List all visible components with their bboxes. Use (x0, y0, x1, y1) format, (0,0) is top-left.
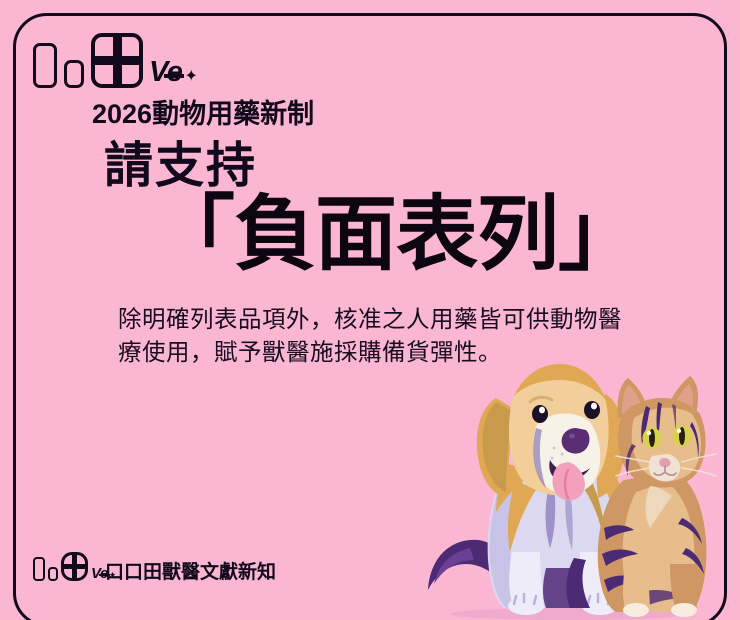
footer-logo: Ve ✦ (33, 552, 108, 581)
logo-spark-icon: ✦ (185, 69, 198, 85)
header-logo: Ve ✦ (33, 33, 182, 88)
logo-bar-tall-icon (33, 43, 57, 88)
logo-bar-short-icon (48, 567, 58, 581)
poster-canvas: Ve ✦ 2026動物用藥新制 請支持 「負面表列」 除明確列表品項外，核准之人… (0, 0, 740, 620)
logo-cross-icon (61, 552, 88, 581)
footer-brand-text: 口口田獸醫文獻新知 (105, 557, 276, 584)
logo-cross-icon (91, 33, 143, 88)
logo-bar-tall-icon (33, 557, 45, 581)
headline-text: 「負面表列」 (153, 192, 639, 278)
subhead-text: 請支持 (104, 126, 257, 197)
dog-and-cat-illustration (420, 352, 730, 620)
cross-horizontal-icon (94, 56, 140, 65)
logo-wordmark-text: Ve (149, 56, 182, 88)
logo-strike-icon (164, 74, 184, 78)
cross-horizontal-icon (63, 564, 86, 569)
logo-wordmark: Ve ✦ (149, 58, 182, 87)
logo-bar-short-icon (64, 60, 84, 88)
